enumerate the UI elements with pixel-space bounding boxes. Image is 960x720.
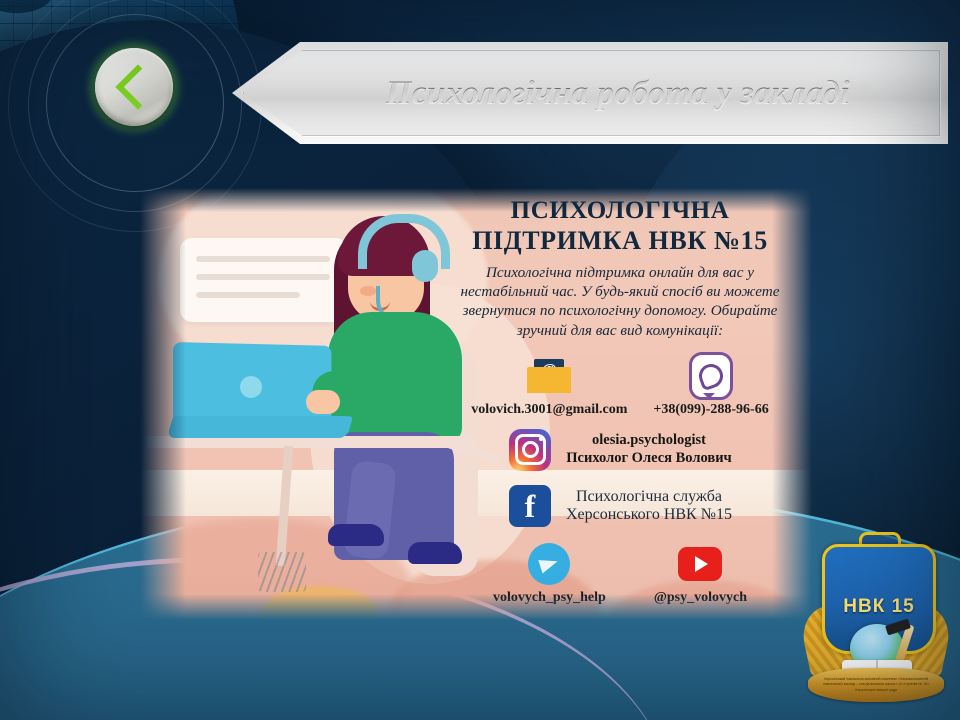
contact-email[interactable]: @ volovich.3001@gmail.com [471, 354, 627, 418]
youtube-icon [678, 542, 722, 586]
contact-row-telegram-youtube: volovych_psy_help @psy_volovych [440, 542, 800, 606]
viber-icon [689, 354, 733, 398]
contact-row-facebook[interactable]: f Психологічна служба Херсонського НВК №… [440, 484, 800, 528]
emblem-name: НВК 15 [843, 596, 914, 618]
contact-instagram-text: olesia.psychologist Психолог Олеся Волов… [566, 432, 731, 467]
instagram-icon [508, 428, 552, 472]
page-title: Психологічна робота у закладі [330, 75, 850, 112]
telegram-icon [527, 542, 571, 586]
cheek-blush [360, 286, 376, 296]
contact-row-instagram[interactable]: olesia.psychologist Психолог Олеся Волов… [440, 428, 800, 472]
contact-email-label: volovich.3001@gmail.com [471, 402, 627, 418]
back-button[interactable] [95, 48, 173, 126]
hand-shape [306, 390, 340, 414]
facebook-icon: f [508, 484, 552, 528]
contact-instagram-name: Психолог Олеся Волович [566, 450, 731, 468]
poster-heading-line2: ПІДТРИМКА НВК №15 [440, 226, 800, 257]
contact-rows: @ volovich.3001@gmail.com +38(099)-288-9… [440, 354, 800, 606]
poster-heading-line1: ПСИХОЛОГІЧНА [511, 197, 730, 224]
headset-earcup [412, 250, 438, 282]
illustration-woman-with-headset [162, 194, 482, 614]
emblem-ribbon-text: Херсонський навчально-виховний комплекс … [820, 677, 932, 693]
contact-facebook-line1: Психологічна служба [566, 488, 732, 506]
contact-instagram-handle: olesia.psychologist [566, 432, 731, 450]
contact-telegram[interactable]: volovych_psy_help [493, 542, 606, 606]
school-emblem: НВК 15 Херсонський навчально-виховний ко… [800, 528, 952, 714]
shoe-left [328, 524, 384, 546]
contact-telegram-label: volovych_psy_help [493, 590, 606, 606]
contact-facebook-line2: Херсонського НВК №15 [566, 506, 732, 524]
contact-row-email-viber: @ volovich.3001@gmail.com +38(099)-288-9… [440, 354, 800, 418]
contact-youtube[interactable]: @psy_volovych [654, 542, 747, 606]
laptop-logo-dot [240, 376, 262, 398]
contact-viber[interactable]: +38(099)-288-96-66 [653, 354, 768, 418]
contact-facebook-text: Психологічна служба Херсонського НВК №15 [566, 488, 732, 524]
slide: Психологічна робота у закладі [0, 0, 960, 720]
poster-image: ПСИХОЛОГІЧНА ПІДТРИМКА НВК №15 Психологі… [140, 188, 812, 620]
desk-leg [276, 446, 293, 566]
chevron-left-icon [115, 64, 160, 109]
email-icon: @ [527, 354, 571, 398]
poster-heading: ПСИХОЛОГІЧНА ПІДТРИМКА НВК №15 [440, 196, 800, 256]
title-banner: Психологічна робота у закладі [232, 42, 948, 144]
poster-lead-text: Психологічна підтримка онлайн для вас у … [452, 263, 788, 340]
plant-frond-icon [258, 552, 306, 592]
contact-youtube-label: @psy_volovych [654, 590, 747, 606]
emblem-ribbon: Херсонський навчально-виховний комплекс … [808, 668, 944, 702]
speech-bubble-icon [180, 238, 348, 322]
laptop-keyboard [167, 416, 353, 438]
poster-text-column: ПСИХОЛОГІЧНА ПІДТРИМКА НВК №15 Психологі… [440, 196, 800, 616]
back-button-disc[interactable] [95, 48, 173, 126]
